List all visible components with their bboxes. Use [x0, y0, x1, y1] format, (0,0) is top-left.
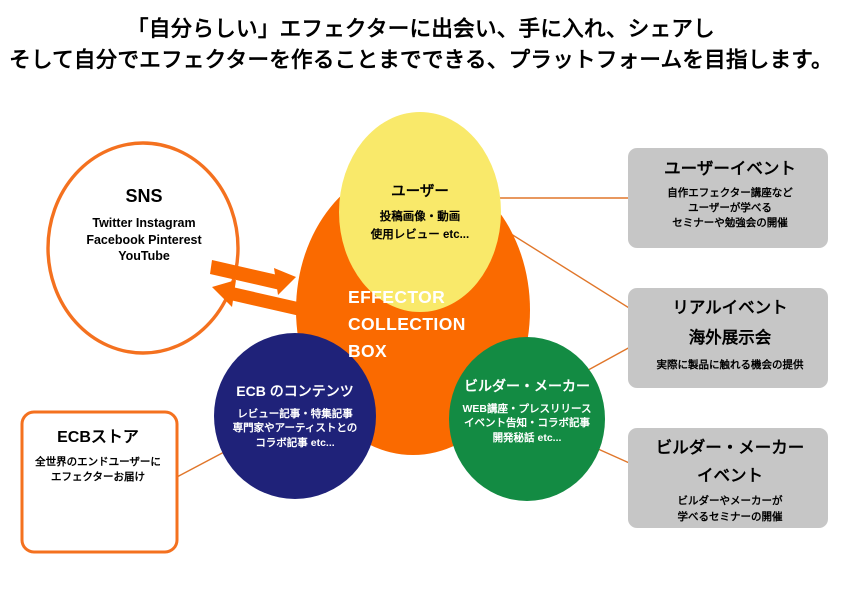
user-node-shape[interactable]	[339, 112, 501, 312]
diagram-shapes	[0, 0, 842, 595]
diagram-canvas: 「自分らしい」エフェクターに出会い、手に入れ、シェアし そして自分でエフェクター…	[0, 0, 842, 595]
user-event-node-shape[interactable]	[628, 148, 828, 248]
builder-event-node-shape[interactable]	[628, 428, 828, 528]
sns-node-shape[interactable]	[48, 143, 238, 353]
ecb-content-node-shape[interactable]	[214, 333, 376, 499]
real-event-node-shape[interactable]	[628, 288, 828, 388]
ecb-store-node-shape[interactable]	[22, 412, 177, 552]
builder-maker-node-shape[interactable]	[449, 337, 605, 501]
